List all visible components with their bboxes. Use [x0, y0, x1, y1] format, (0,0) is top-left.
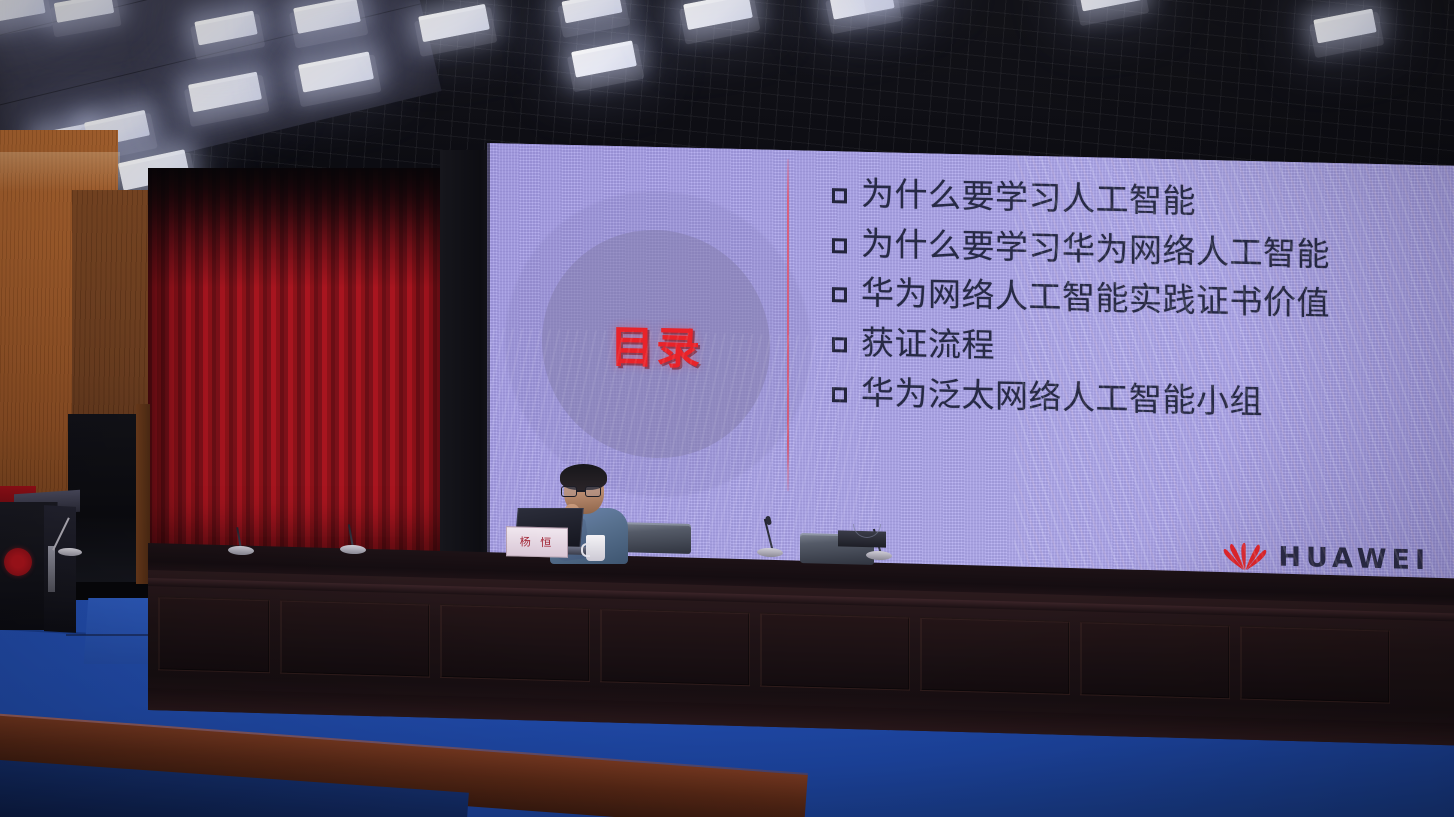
square-bullet-icon [832, 188, 847, 203]
ceiling-light [54, 0, 115, 23]
list-item-label: 为什么要学习华为网络人工智能 [861, 226, 1330, 272]
list-item-label: 华为泛太网络人工智能小组 [861, 375, 1263, 419]
wall-light-spill [0, 152, 120, 192]
glasses-icon [561, 486, 603, 497]
table-panel [280, 600, 430, 678]
huawei-logo: HUAWEI [1223, 540, 1430, 576]
glasses-lens-left [561, 486, 577, 497]
list-item: 获证流程 [832, 325, 1442, 374]
curtain-shadow [148, 168, 458, 288]
podium-trim [48, 546, 55, 592]
list-item-label: 为什么要学习人工智能 [861, 177, 1196, 220]
list-item: 为什么要学习华为网络人工智能 [832, 226, 1442, 275]
toc-heading: 目录 [610, 311, 702, 377]
list-item-label: 获证流程 [861, 326, 995, 364]
table-panel [158, 596, 270, 673]
podium-emblem-icon [4, 548, 32, 576]
huawei-wordmark: HUAWEI [1278, 542, 1430, 577]
ceiling-light [561, 0, 622, 23]
square-bullet-icon [832, 238, 847, 253]
square-bullet-icon [832, 337, 847, 352]
table-panel [1080, 621, 1230, 699]
square-bullet-icon [832, 287, 847, 302]
tea-cup [586, 535, 605, 561]
huawei-flower-icon [1223, 541, 1267, 572]
glasses-bridge [577, 490, 585, 492]
table-panel [600, 608, 750, 686]
toc-list: 为什么要学习人工智能 为什么要学习华为网络人工智能 华为网络人工智能实践证书价值… [832, 176, 1442, 439]
name-card-label: 杨 恒 [520, 534, 555, 551]
table-panel [760, 613, 910, 691]
table-panel [440, 604, 590, 682]
square-bullet-icon [832, 387, 847, 402]
list-item-label: 华为网络人工智能实践证书价值 [861, 276, 1330, 322]
table-panel [920, 617, 1070, 695]
table-panel [1240, 626, 1390, 704]
ceiling-light [1078, 0, 1141, 12]
conference-hall-photo: 目录 为什么要学习人工智能 为什么要学习华为网络人工智能 华为网络人工智能实践证… [0, 0, 1454, 817]
vertical-divider-line [787, 159, 789, 491]
name-card: 杨 恒 [506, 526, 568, 558]
ceiling-light [0, 0, 46, 23]
glasses-lens-right [585, 486, 601, 497]
list-item: 华为泛太网络人工智能小组 [832, 375, 1442, 424]
list-item: 华为网络人工智能实践证书价值 [832, 275, 1442, 324]
ceiling-light [683, 0, 753, 30]
